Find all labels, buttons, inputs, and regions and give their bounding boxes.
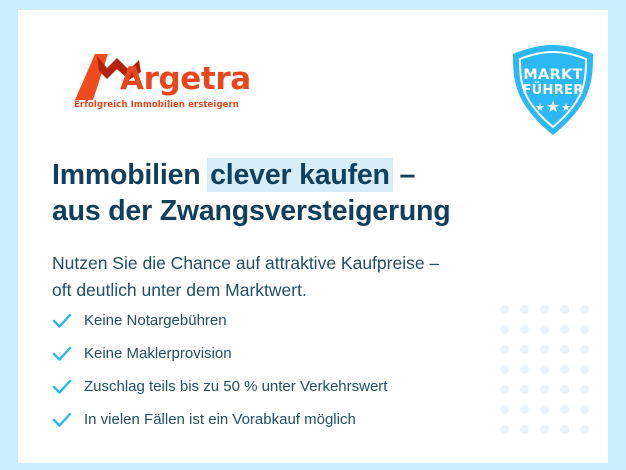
decorative-dot <box>580 425 589 434</box>
benefit-label: Keine Notargebühren <box>84 312 227 330</box>
logo-wordmark: Argetra <box>120 64 251 95</box>
headline-highlight: clever kaufen <box>207 158 393 192</box>
decorative-dot <box>580 365 589 374</box>
check-icon <box>52 345 84 363</box>
banner-card: Argetra Erfolgreich Immobilien ersteiger… <box>18 10 608 463</box>
benefit-item: Keine Notargebühren <box>52 306 532 335</box>
argetra-logo: Argetra Erfolgreich Immobilien ersteiger… <box>73 52 253 114</box>
decorative-dot <box>540 365 549 374</box>
market-leader-badge: MARKT FÜHRER ★★★ <box>505 42 601 138</box>
decorative-dot <box>560 325 569 334</box>
decorative-dot <box>580 345 589 354</box>
decorative-dot <box>540 305 549 314</box>
logo-tagline: Erfolgreich Immobilien ersteigern <box>74 100 239 110</box>
headline-line-2: aus der Zwangsversteigerung <box>52 195 450 227</box>
benefit-item: Zuschlag teils bis zu 50 % unter Verkehr… <box>52 372 532 401</box>
decorative-dot <box>540 345 549 354</box>
decorative-dot <box>540 325 549 334</box>
decorative-dot <box>580 305 589 314</box>
headline-part-1: Immobilien <box>52 159 208 191</box>
benefit-item: In vielen Fällen ist ein Vorabkauf mögli… <box>52 405 532 434</box>
check-icon <box>52 378 84 396</box>
benefit-item: Keine Maklerprovision <box>52 339 532 368</box>
badge-line-1: MARKT <box>505 67 601 83</box>
decorative-dot <box>540 405 549 414</box>
subheading-line-2: oft deutlich unter dem Marktwert. <box>52 280 307 300</box>
decorative-dot <box>580 405 589 414</box>
badge-line-2: FÜHRER <box>505 83 601 98</box>
decorative-dot <box>560 405 569 414</box>
check-icon <box>52 312 84 330</box>
promo-banner: Argetra Erfolgreich Immobilien ersteiger… <box>0 0 626 470</box>
decorative-dot <box>560 305 569 314</box>
star-icon: ★ <box>535 103 545 114</box>
benefits-list: Keine NotargebührenKeine Maklerprovision… <box>52 306 532 438</box>
subheading-line-1: Nutzen Sie die Chance auf attraktive Kau… <box>52 253 439 273</box>
badge-stars: ★★★ <box>505 100 601 116</box>
decorative-dot <box>560 425 569 434</box>
star-icon: ★ <box>561 103 571 114</box>
headline-part-2: – <box>392 159 415 191</box>
decorative-dot <box>560 345 569 354</box>
decorative-dot <box>540 425 549 434</box>
decorative-dot <box>580 325 589 334</box>
headline: Immobilien clever kaufen – aus der Zwang… <box>52 157 572 229</box>
decorative-dot <box>560 385 569 394</box>
star-icon: ★ <box>546 100 560 116</box>
subheading: Nutzen Sie die Chance auf attraktive Kau… <box>52 250 552 304</box>
benefit-label: Zuschlag teils bis zu 50 % unter Verkehr… <box>84 378 387 396</box>
benefit-label: In vielen Fällen ist ein Vorabkauf mögli… <box>84 411 356 429</box>
decorative-dot <box>560 365 569 374</box>
decorative-dot <box>540 385 549 394</box>
check-icon <box>52 411 84 429</box>
benefit-label: Keine Maklerprovision <box>84 345 232 363</box>
decorative-dot <box>580 385 589 394</box>
